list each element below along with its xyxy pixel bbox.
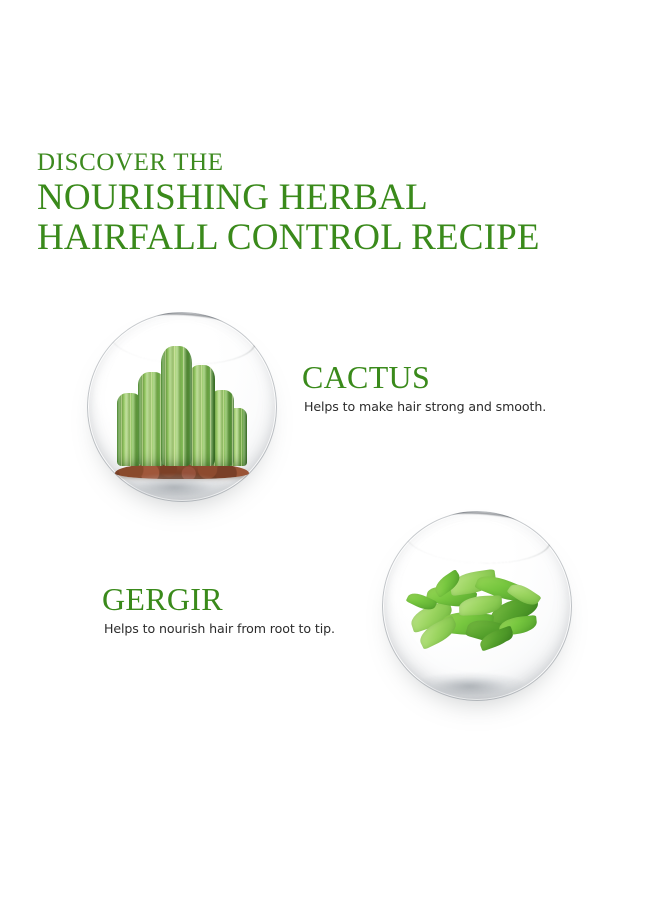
- headline-block: DISCOVER THE NOURISHING HERBAL HAIRFALL …: [37, 148, 637, 257]
- infographic-canvas: DISCOVER THE NOURISHING HERBAL HAIRFALL …: [0, 0, 660, 900]
- sphere-inner-shadow: [409, 682, 546, 701]
- sphere-inner-shadow: [114, 483, 251, 502]
- cactus-illustration: [108, 352, 256, 479]
- ingredient-title-cactus: CACTUS: [302, 360, 430, 394]
- headline-line-1: NOURISHING HERBAL: [37, 178, 637, 217]
- gergir-glass-sphere-image: [382, 511, 572, 701]
- ingredient-description-cactus: Helps to make hair strong and smooth.: [304, 398, 554, 415]
- ingredient-title-gergir: GERGIR: [102, 582, 223, 616]
- cactus-glass-sphere-image: [87, 312, 277, 502]
- headline-line-2: HAIRFALL CONTROL RECIPE: [37, 218, 637, 257]
- headline-kicker: DISCOVER THE: [37, 148, 637, 178]
- ingredient-description-gergir: Helps to nourish hair from root to tip.: [104, 620, 354, 637]
- gergir-leaves-illustration: [407, 562, 551, 657]
- cactus-stem: [161, 346, 192, 467]
